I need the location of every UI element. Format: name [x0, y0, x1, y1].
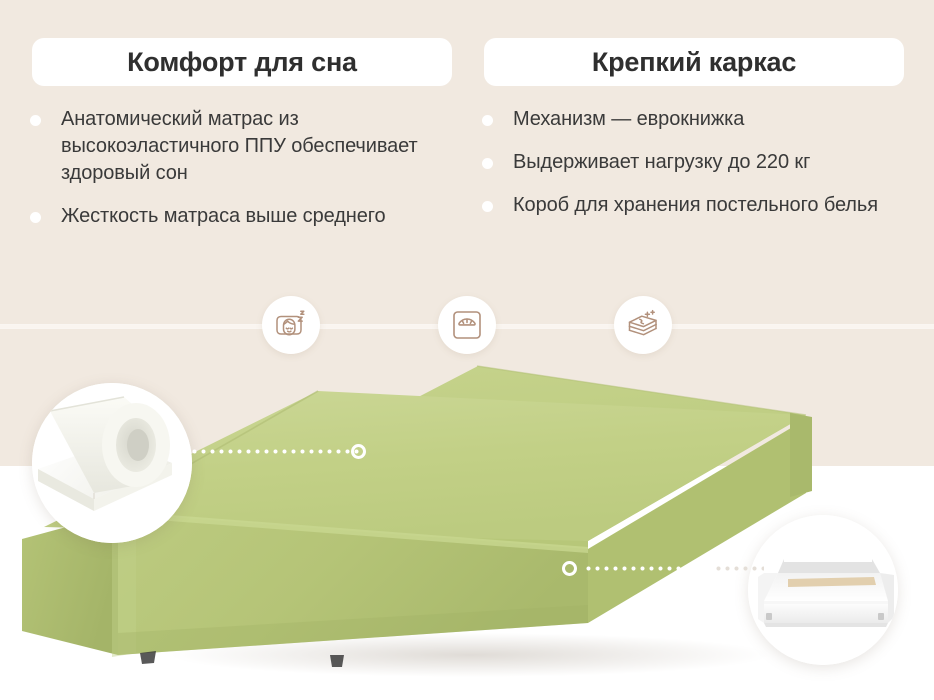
sofa-foot: [140, 651, 156, 664]
list-item: Короб для хранения постельного белья: [482, 192, 912, 219]
bullet-list-frame: Механизм — еврокнижка Выдерживает нагруз…: [482, 106, 912, 235]
folded-linens-icon: [625, 308, 661, 342]
bathroom-scale-icon: [450, 308, 484, 342]
sleeping-face-pillow-icon: [273, 308, 309, 342]
list-item: Жесткость матраса выше среднего: [30, 203, 450, 230]
storage-box-image: [748, 515, 898, 665]
bullet-text: Анатомический матрас из высокоэластичног…: [61, 106, 450, 187]
callout-anchor-point-box: [562, 561, 577, 576]
bullet-text: Короб для хранения постельного белья: [513, 192, 878, 219]
header-title-comfort: Комфорт для сна: [127, 47, 357, 78]
bullet-list-comfort: Анатомический матрас из высокоэластичног…: [30, 106, 450, 246]
callout-connector-line-box-tail: [714, 566, 764, 571]
callout-inset-foam-roll: [32, 383, 192, 543]
bullet-text: Выдерживает нагрузку до 220 кг: [513, 149, 810, 176]
header-title-frame: Крепкий каркас: [592, 47, 796, 78]
foam-roll-image: [32, 383, 192, 543]
bullet-text: Механизм — еврокнижка: [513, 106, 744, 133]
bullet-dot-icon: [482, 158, 493, 169]
bullet-dot-icon: [482, 201, 493, 212]
header-pill-comfort: Комфорт для сна: [32, 38, 452, 86]
header-pill-frame: Крепкий каркас: [484, 38, 904, 86]
list-item: Анатомический матрас из высокоэластичног…: [30, 106, 450, 187]
bullet-text: Жесткость матраса выше среднего: [61, 203, 386, 230]
bullet-dot-icon: [482, 115, 493, 126]
callout-connector-line-foam: [190, 449, 360, 454]
sofa-foot: [330, 655, 344, 667]
list-item: Механизм — еврокнижка: [482, 106, 912, 133]
infographic-canvas: Комфорт для сна Крепкий каркас Анатомиче…: [0, 0, 934, 700]
callout-inset-storage-box: [748, 515, 898, 665]
bullet-dot-icon: [30, 115, 41, 126]
callout-connector-line-box: [584, 566, 714, 571]
callout-anchor-point-foam: [351, 444, 366, 459]
feature-icon-badge-weight: [438, 296, 496, 354]
sofa-right-endcap: [790, 413, 812, 497]
list-item: Выдерживает нагрузку до 220 кг: [482, 149, 912, 176]
bullet-dot-icon: [30, 212, 41, 223]
feature-icon-badge-linens: [614, 296, 672, 354]
feature-icon-badge-sleep: [262, 296, 320, 354]
